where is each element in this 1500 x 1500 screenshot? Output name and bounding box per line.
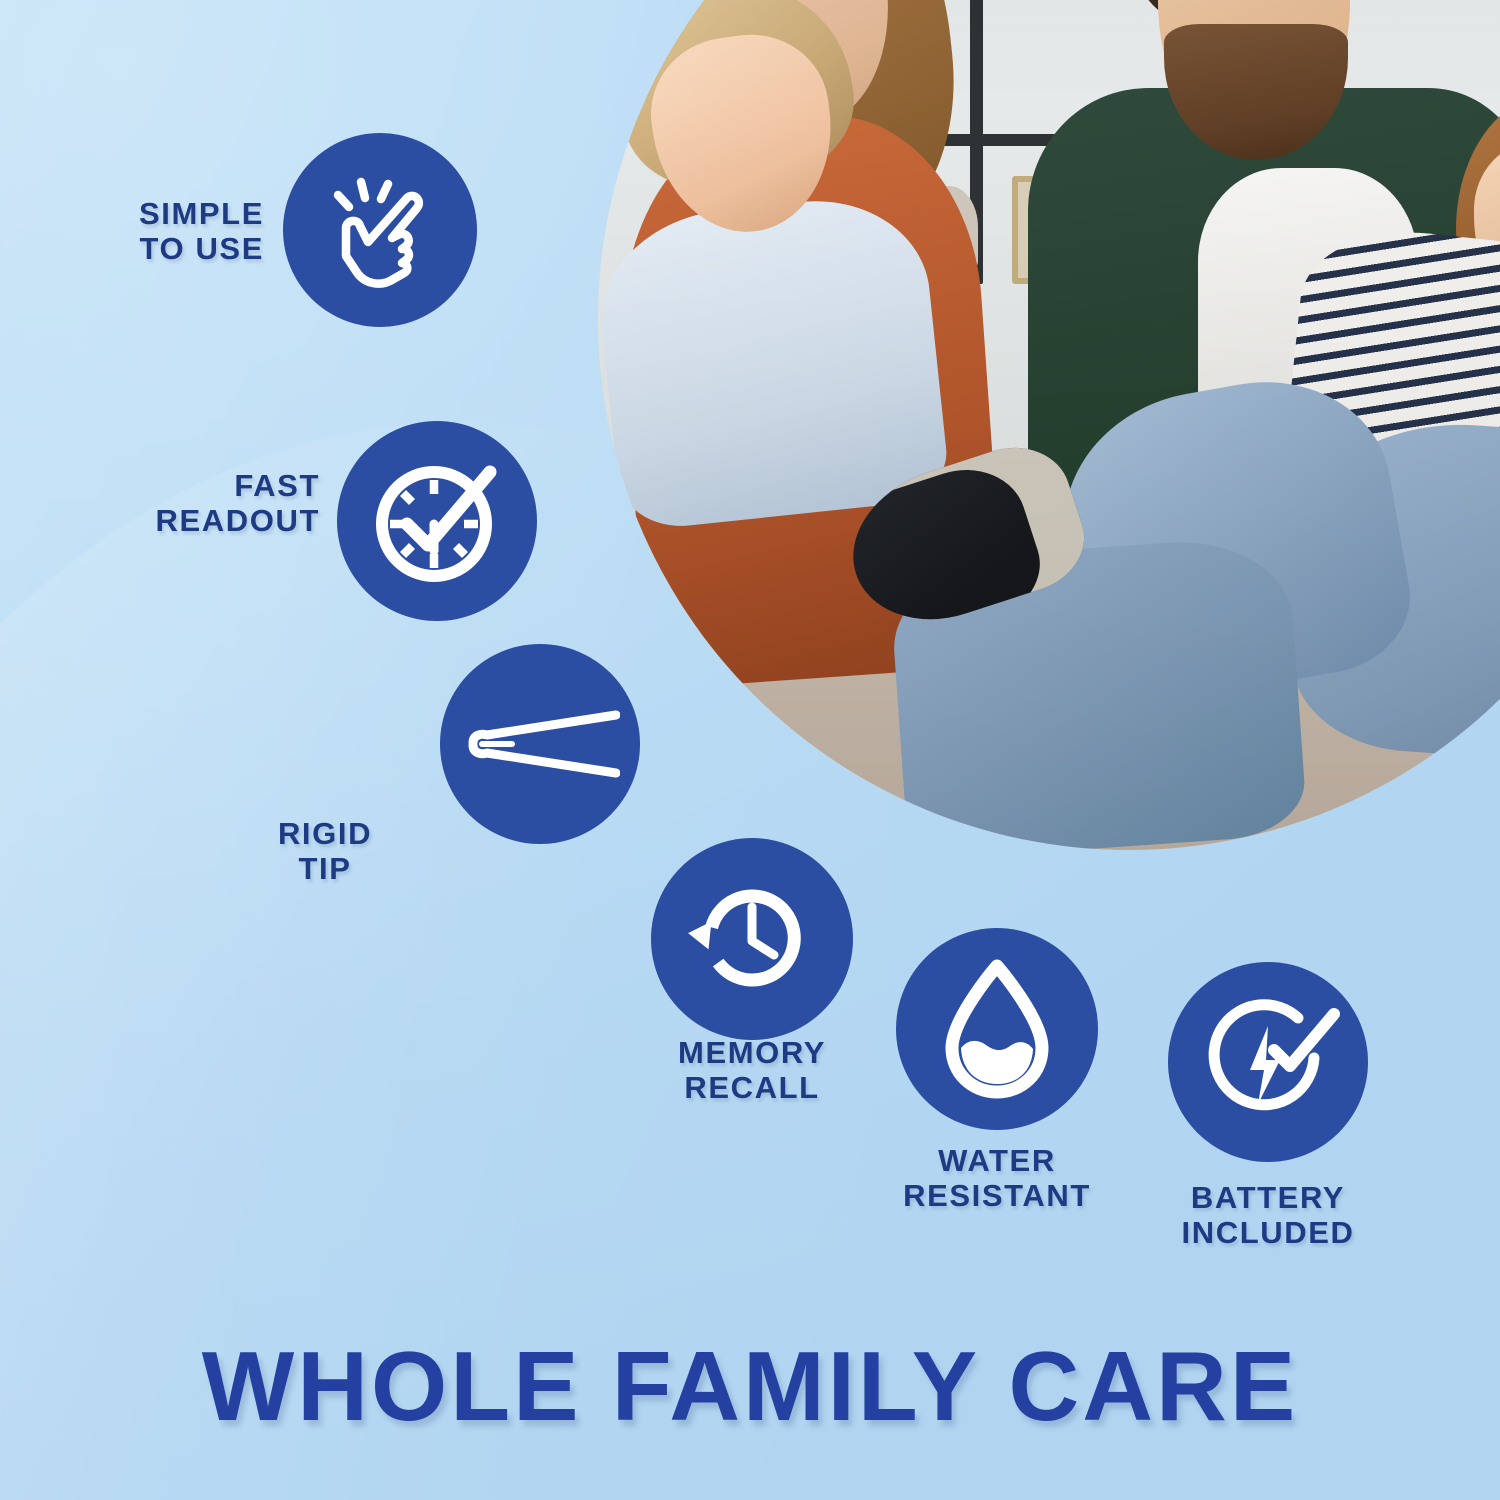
feature-rigid-tip-label: RIGID TIP bbox=[230, 816, 420, 887]
family-photo-image bbox=[598, 0, 1500, 850]
infographic-canvas: SIMPLE TO USE bbox=[0, 0, 1500, 1500]
hero-photo bbox=[598, 0, 1500, 850]
feature-fast-readout-badge bbox=[337, 421, 537, 621]
feature-battery-included-label: BATTERY INCLUDED bbox=[1110, 1180, 1426, 1251]
feature-battery-included-badge bbox=[1168, 962, 1368, 1162]
battery-bolt-check-icon bbox=[1194, 988, 1342, 1136]
feature-water-resistant-badge bbox=[896, 928, 1098, 1130]
page-title: WHOLE FAMILY CARE bbox=[0, 1330, 1500, 1443]
photo-vignette bbox=[598, 0, 1500, 850]
feature-rigid-tip-badge bbox=[440, 644, 640, 844]
feature-simple-to-use-label: SIMPLE TO USE bbox=[0, 196, 264, 267]
feature-simple-to-use-badge bbox=[283, 133, 477, 327]
feature-memory-recall-label: MEMORY RECALL bbox=[578, 1035, 926, 1106]
feature-fast-readout-label: FAST READOUT bbox=[40, 468, 320, 539]
water-droplet-icon bbox=[936, 956, 1058, 1102]
probe-tip-icon bbox=[460, 699, 620, 789]
feature-memory-recall-badge bbox=[651, 838, 853, 1040]
clock-check-icon bbox=[366, 450, 508, 592]
clock-history-icon bbox=[684, 871, 820, 1007]
snapping-fingers-icon bbox=[318, 168, 442, 292]
